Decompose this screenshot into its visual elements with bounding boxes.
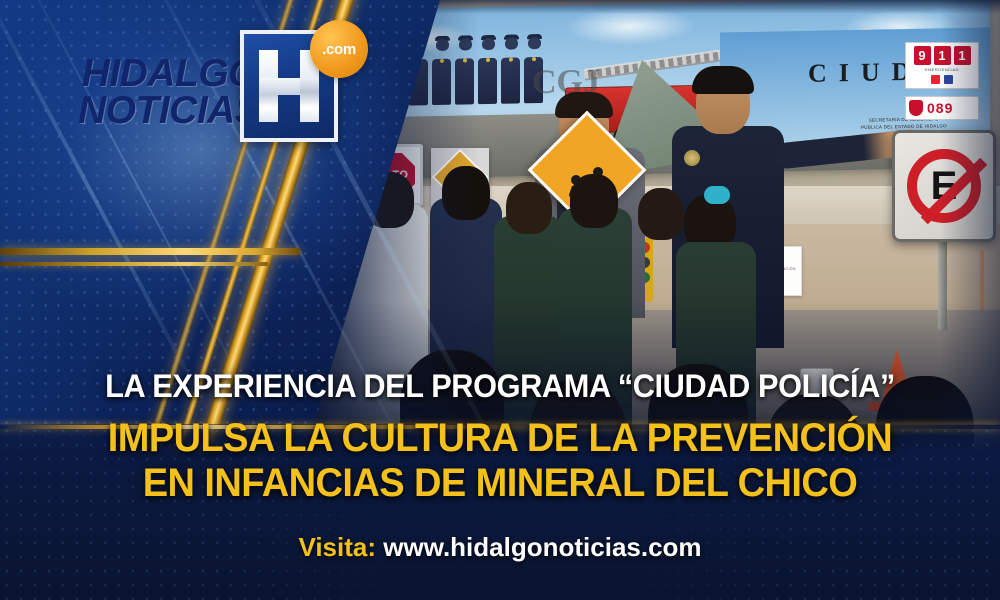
site-logo[interactable]: HIDALGO NOTICIAS .com	[78, 52, 328, 152]
shield-icon	[909, 100, 923, 116]
hair-bow	[704, 186, 730, 204]
gold-accent-line	[0, 248, 300, 255]
h-letter-icon	[259, 50, 319, 122]
headline-line-1: LA EXPERIENCIA DEL PROGRAMA “CIUDAD POLI…	[20, 370, 980, 402]
news-graphic-card: CGJ CIUDAD SECRETARÍA DE SEGURIDAD PÚBLI…	[0, 0, 1000, 600]
headline-block: LA EXPERIENCIA DEL PROGRAMA “CIUDAD POLI…	[0, 370, 1000, 503]
dotcom-label: .com	[322, 41, 356, 58]
dotcom-badge: .com	[310, 20, 368, 78]
visit-url-line[interactable]: Visita: www.hidalgonoticias.com	[0, 532, 1000, 563]
logo-line-2: NOTICIAS	[78, 93, 258, 128]
site-url[interactable]: www.hidalgonoticias.com	[383, 532, 701, 562]
headline-line-3: EN INFANCIAS DE MINERAL DEL CHICO	[25, 463, 975, 503]
logo-line-1: HIDALGO	[78, 56, 258, 91]
gold-accent-line	[0, 262, 268, 266]
logo-wordmark: HIDALGO NOTICIAS	[78, 56, 258, 128]
headline-line-2: IMPULSA LA CULTURA DE LA PREVENCIÓN	[25, 418, 975, 458]
visit-label: Visita:	[298, 532, 376, 562]
